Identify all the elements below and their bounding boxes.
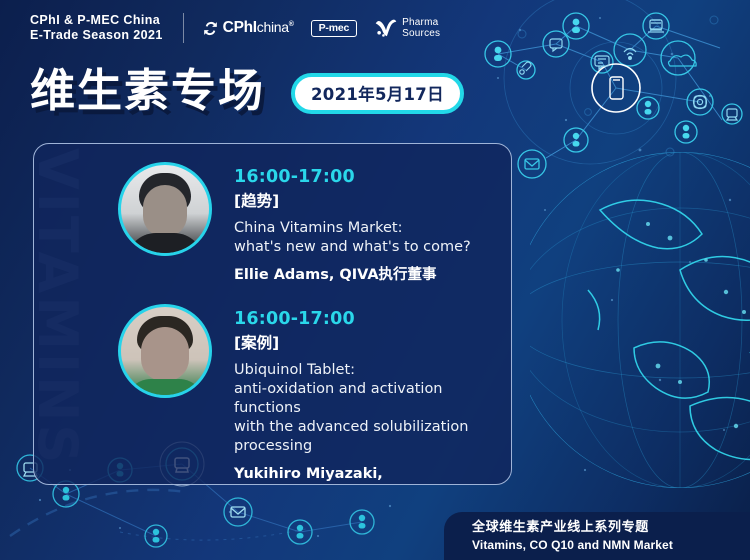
pharma-sources-mark-icon (374, 19, 398, 38)
speaker-avatar-yukihiro-miyazaki (118, 304, 212, 398)
header-bar: CPhI & P-MEC China E-Trade Season 2021 C… (0, 0, 750, 56)
logo-row: CPhIchina® P-mec Pharma Sources (201, 17, 441, 39)
date-badge: 2021年5月17日 (291, 73, 464, 114)
event-name: CPhI & P-MEC China E-Trade Season 2021 (30, 13, 163, 43)
avatar-body (125, 379, 205, 398)
wireframe-globe-icon (530, 120, 750, 520)
session-item: 16:00-17:00 [案例] Ubiquinol Tablet: anti-… (118, 304, 511, 485)
session-tag: [趋势] (234, 189, 471, 213)
promotional-banner: CPhI & P-MEC China E-Trade Season 2021 C… (0, 0, 750, 560)
title-row: 维生素专场 2021年5月17日 (30, 66, 464, 116)
footer-title-en: Vitamins, CO Q10 and NMN Market (472, 537, 750, 553)
session-time: 16:00-17:00 (234, 308, 511, 330)
logo-cphi-text: CPhIchina® (223, 19, 294, 37)
logo-pmec: P-mec (311, 20, 358, 37)
header-divider (183, 13, 184, 43)
session-topic: China Vitamins Market: what's new and wh… (234, 219, 471, 257)
page-title: 维生素专场 (30, 66, 265, 116)
session-speaker: Yukihiro Miyazaki, Jupiter BioScience Ja… (234, 465, 511, 485)
speaker-avatar-ellie-adams (118, 162, 212, 256)
footer-title-cn: 全球维生素产业线上系列专题 (472, 519, 750, 536)
session-item: 16:00-17:00 [趋势] China Vitamins Market: … (118, 162, 471, 285)
footer-banner: 全球维生素产业线上系列专题 Vitamins, CO Q10 and NMN M… (444, 512, 750, 560)
session-topic: Ubiquinol Tablet: anti-oxidation and act… (234, 361, 511, 456)
session-text: 16:00-17:00 [趋势] China Vitamins Market: … (234, 162, 471, 285)
avatar-head (143, 185, 187, 237)
recycle-arrows-icon (201, 19, 220, 38)
session-tag: [案例] (234, 331, 511, 355)
session-text: 16:00-17:00 [案例] Ubiquinol Tablet: anti-… (234, 304, 511, 485)
session-speaker: Ellie Adams, QIVA执行董事 (234, 266, 471, 285)
logo-cphi-china: CPhIchina® (201, 19, 294, 38)
logo-pharma-sources: Pharma Sources (374, 17, 440, 39)
session-time: 16:00-17:00 (234, 166, 471, 188)
avatar-head (141, 327, 189, 381)
sessions-card: 16:00-17:00 [趋势] China Vitamins Market: … (33, 143, 512, 485)
avatar-body (126, 233, 204, 256)
logo-pharma-text: Pharma Sources (402, 17, 440, 39)
